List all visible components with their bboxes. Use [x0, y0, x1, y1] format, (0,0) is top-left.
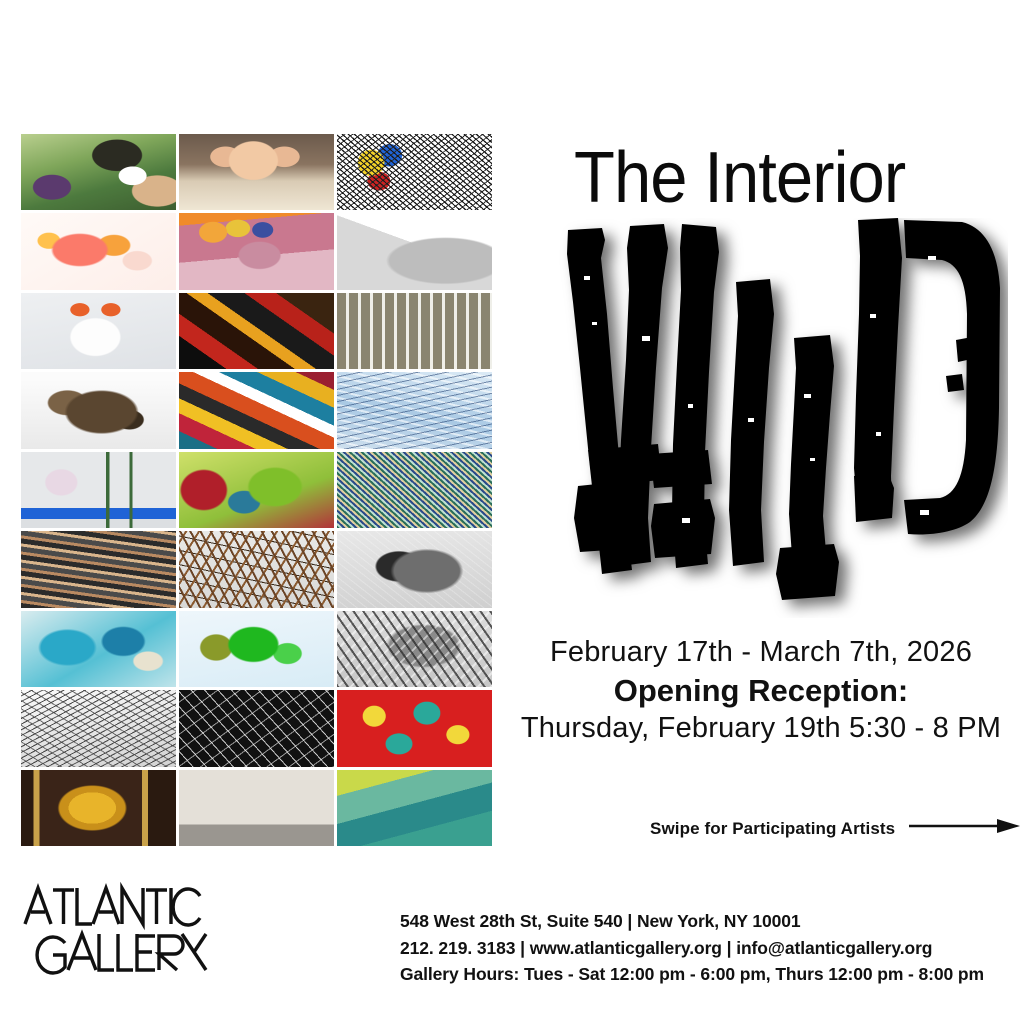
artwork-cell	[179, 611, 334, 687]
artwork-thumbnail-22	[21, 690, 176, 766]
gallery-hours: Gallery Hours: Tues - Sat 12:00 pm - 6:0…	[400, 961, 984, 988]
artwork-cell	[337, 611, 492, 687]
artwork-cell	[21, 213, 176, 289]
artwork-thumbnail-2	[179, 134, 334, 210]
artwork-cell	[179, 134, 334, 210]
artwork-cell	[337, 213, 492, 289]
opening-reception-time: Thursday, February 19th 5:30 - 8 PM	[512, 712, 1010, 745]
artwork-thumbnail-1	[21, 134, 176, 210]
artwork-thumbnail-13	[21, 452, 176, 528]
artwork-thumbnail-25	[21, 770, 176, 846]
artwork-thumbnail-16	[21, 531, 176, 607]
artwork-thumbnail-14	[179, 452, 334, 528]
artwork-thumbnail-18	[337, 531, 492, 607]
artwork-cell	[179, 690, 334, 766]
exhibition-title-wild-wordmark	[558, 218, 1008, 618]
artwork-thumbnail-11	[179, 372, 334, 448]
artwork-cell	[21, 372, 176, 448]
artwork-thumbnail-12	[337, 372, 492, 448]
poster-text-column: The Interior	[512, 0, 1024, 1024]
artwork-thumbnail-27	[337, 770, 492, 846]
artwork-cell	[337, 452, 492, 528]
swipe-prompt-label: Swipe for Participating Artists	[650, 819, 895, 839]
artwork-cell	[179, 770, 334, 846]
artwork-cell	[179, 293, 334, 369]
exhibition-date-range: February 17th - March 7th, 2026	[512, 636, 1010, 669]
artwork-cell	[337, 690, 492, 766]
artwork-thumbnail-21	[337, 611, 492, 687]
artwork-cell	[21, 690, 176, 766]
artwork-cell	[179, 531, 334, 607]
artwork-thumbnail-8	[179, 293, 334, 369]
artwork-cell	[179, 452, 334, 528]
artwork-cell	[21, 134, 176, 210]
artwork-cell	[337, 134, 492, 210]
artwork-grid	[21, 134, 492, 846]
artwork-cell	[21, 531, 176, 607]
atlantic-gallery-logo	[22, 880, 222, 975]
artwork-thumbnail-20	[179, 611, 334, 687]
gallery-address: 548 West 28th St, Suite 540 | New York, …	[400, 908, 984, 935]
artwork-cell	[21, 293, 176, 369]
artwork-thumbnail-19	[21, 611, 176, 687]
artwork-thumbnail-7	[21, 293, 176, 369]
arrow-right-icon	[909, 818, 1021, 839]
artwork-thumbnail-6	[337, 213, 492, 289]
artwork-thumbnail-9	[337, 293, 492, 369]
artwork-thumbnail-10	[21, 372, 176, 448]
artwork-thumbnail-26	[179, 770, 334, 846]
artwork-thumbnail-5	[179, 213, 334, 289]
artwork-thumbnail-23	[179, 690, 334, 766]
gallery-phone-web: 212. 219. 3183 | www.atlanticgallery.org…	[400, 935, 984, 962]
artwork-cell	[21, 611, 176, 687]
artwork-cell	[337, 372, 492, 448]
artwork-thumbnail-24	[337, 690, 492, 766]
artwork-thumbnail-15	[337, 452, 492, 528]
artwork-cell	[179, 372, 334, 448]
exhibition-title-line1: The Interior	[574, 142, 905, 214]
exhibition-dates-block: February 17th - March 7th, 2026 Opening …	[512, 636, 1010, 745]
exhibition-poster: The Interior	[0, 0, 1024, 1024]
artwork-cell	[21, 770, 176, 846]
artwork-cell	[337, 293, 492, 369]
swipe-prompt[interactable]: Swipe for Participating Artists	[650, 818, 1021, 839]
artwork-cell	[21, 452, 176, 528]
gallery-contact-block: 548 West 28th St, Suite 540 | New York, …	[400, 908, 984, 988]
artwork-thumbnail-3	[337, 134, 492, 210]
artwork-cell	[337, 531, 492, 607]
artwork-thumbnail-4	[21, 213, 176, 289]
artwork-thumbnail-17	[179, 531, 334, 607]
artwork-cell	[179, 213, 334, 289]
artwork-cell	[337, 770, 492, 846]
opening-reception-label: Opening Reception:	[512, 673, 1010, 709]
